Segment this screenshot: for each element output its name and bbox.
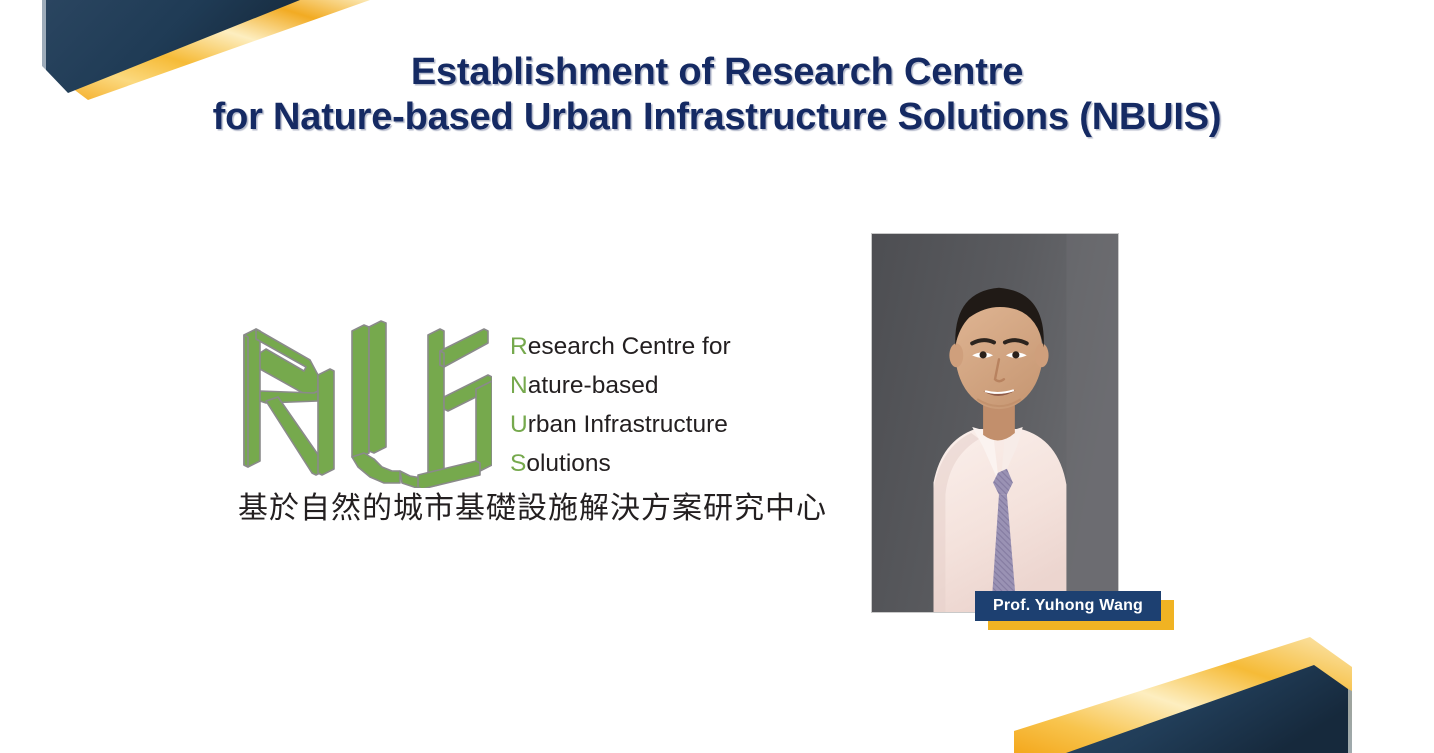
wordmark-line-2: Nature-based xyxy=(510,366,790,405)
rnus-wordmark: Research Centre for Nature-based Urban I… xyxy=(510,327,790,483)
portrait-photo xyxy=(872,234,1118,612)
wordmark-cap-s: S xyxy=(510,450,526,477)
page-title: Establishment of Research Centre for Nat… xyxy=(0,50,1434,140)
portrait-photo-frame xyxy=(871,233,1119,613)
name-badge-label: Prof. Yuhong Wang xyxy=(993,597,1143,615)
bottom-right-navy-edge xyxy=(1348,689,1352,753)
rnus-monogram-icon xyxy=(232,313,492,488)
wordmark-line-4: Solutions xyxy=(510,444,790,483)
wordmark-rest-2: ature-based xyxy=(528,372,659,399)
wordmark-line-3: Urban Infrastructure xyxy=(510,405,790,444)
page-title-line-2: for Nature-based Urban Infrastructure So… xyxy=(0,95,1434,140)
wordmark-rest-4: olutions xyxy=(526,450,610,477)
bottom-right-corner-ribbon xyxy=(1014,623,1434,753)
name-badge-group: Prof. Yuhong Wang xyxy=(975,591,1175,631)
wordmark-rest-3: rban Infrastructure xyxy=(528,411,728,438)
presentation-slide: Establishment of Research Centre for Nat… xyxy=(0,0,1434,753)
wordmark-cap-n: N xyxy=(510,372,528,399)
rnus-logo-group: Research Centre for Nature-based Urban I… xyxy=(232,305,792,530)
wordmark-rest-1: esearch Centre for xyxy=(528,333,731,360)
page-title-line-1: Establishment of Research Centre xyxy=(0,50,1434,95)
wordmark-cap-u: U xyxy=(510,411,528,438)
rnus-chinese-name: 基於自然的城市基礎設施解決方案研究中心 xyxy=(238,483,827,527)
bottom-right-navy-plate xyxy=(1066,665,1348,753)
wordmark-cap-r: R xyxy=(510,333,528,360)
name-badge: Prof. Yuhong Wang xyxy=(975,591,1161,621)
bottom-right-gold-stripe xyxy=(1014,637,1352,753)
wordmark-line-1: Research Centre for xyxy=(510,327,790,366)
